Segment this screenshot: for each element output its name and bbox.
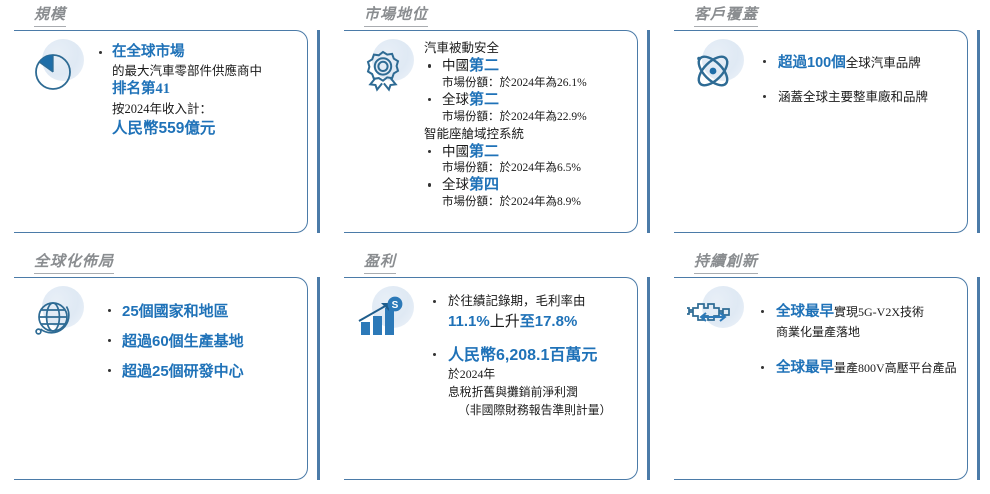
scale-line-1: 在全球市場 — [112, 43, 301, 62]
card-body-customer-coverage: 超過100個全球汽車品牌 涵蓋全球主要整車廠和品牌 — [752, 31, 967, 120]
margin-from: 11.1% — [448, 313, 490, 330]
panel-heading-profitability: 盈利 — [364, 250, 396, 274]
icon-area — [344, 31, 422, 102]
card-body-profitability: 於往績記錄期，毛利率由 11.1%上升至17.8% 人民幣6,208.1百萬元 … — [422, 278, 637, 431]
rank-value: 第二 — [469, 143, 499, 160]
rank-row: 中國第二 — [442, 57, 631, 76]
pie-chart-icon — [29, 47, 77, 100]
innovation-text: 量產800V高壓平台產品 — [834, 361, 957, 375]
ebitda-year: 於2024年 — [448, 366, 631, 384]
rank-region: 全球 — [442, 177, 469, 192]
feature-grid: 規模 — [0, 0, 990, 494]
panel-heading-scale: 規模 — [34, 3, 66, 27]
share-label: 市場份額：於2024年為 — [442, 162, 557, 174]
margin-intro: 於往績記錄期，毛利率由 — [448, 292, 631, 311]
svg-text:S: S — [392, 300, 399, 311]
panel-heading-global-footprint: 全球化佈局 — [34, 250, 114, 274]
icon-area — [14, 278, 92, 349]
panel-innovation: 持續創新 — [660, 247, 990, 494]
list-item: 中國第二 — [422, 57, 631, 76]
panel-heading-innovation: 持續創新 — [694, 250, 758, 274]
card-market-position: 汽車被動安全 中國第二 市場份額：於2024年為26.1% — [344, 30, 638, 233]
innovation-line-2: 商業化量產落地 — [776, 323, 961, 340]
share-value: 8.9% — [557, 196, 581, 208]
margin-to-label: 至 — [520, 313, 535, 330]
group-title-passive-safety: 汽車被動安全 — [424, 39, 631, 57]
rank-region: 中國 — [442, 144, 469, 159]
card-body-market-position: 汽車被動安全 中國第二 市場份額：於2024年為26.1% — [422, 31, 637, 210]
award-badge-icon — [360, 47, 406, 102]
card-right-accent-bar — [977, 277, 980, 480]
list-item: 全球第四 — [422, 176, 631, 195]
icon-area — [674, 278, 752, 345]
list-item: 涵蓋全球主要整車廠和品牌 — [760, 86, 961, 106]
growth-chart-dollar-icon: S — [357, 294, 409, 347]
innovation-text: 實現5G-V2X技術 — [834, 305, 924, 319]
margin-range: 11.1%上升至17.8% — [448, 311, 631, 333]
coverage-count: 超過100個 — [778, 55, 846, 71]
rank-row: 全球第四 — [442, 176, 631, 195]
card-right-accent-bar — [977, 30, 980, 233]
group-title-cockpit-domain: 智能座艙域控系統 — [424, 125, 631, 143]
share-value: 26.1% — [557, 77, 587, 89]
margin-mid: 上升 — [490, 314, 520, 330]
ebitda-nonifrs-note: （非國際財務報告準則計量） — [448, 402, 631, 420]
panel-global-footprint: 全球化佈局 — [0, 247, 330, 494]
rank-region: 全球 — [442, 92, 469, 107]
scale-line-5: 人民幣559億元 — [112, 118, 301, 140]
card-customer-coverage: 超過100個全球汽車品牌 涵蓋全球主要整車廠和品牌 — [674, 30, 968, 233]
atom-icon — [688, 47, 738, 100]
ebitda-amount: 人民幣6,208.1百萬元 — [448, 345, 631, 367]
chip-connect-icon — [687, 294, 739, 345]
panel-heading-customer-coverage: 客戶覆蓋 — [694, 3, 758, 27]
share-value: 6.5% — [557, 162, 581, 174]
list-item: 超過60個生產基地 — [102, 330, 301, 351]
globe-icon — [28, 294, 78, 349]
card-scale: 在全球市場 的最大汽車零部件供應商中 排名第41 按2024年收入計： 人民幣5… — [14, 30, 308, 233]
card-right-accent-bar — [647, 277, 650, 480]
icon-area — [14, 31, 92, 100]
rank-row: 中國第二 — [442, 143, 631, 162]
coverage-note: 涵蓋全球主要整車廠和品牌 — [778, 90, 928, 104]
scale-line-3: 排名第41 — [112, 80, 301, 100]
rank-value: 第二 — [469, 57, 499, 74]
list-item: 全球第二 — [422, 91, 631, 110]
list-item: 超過100個全球汽車品牌 — [760, 51, 961, 72]
card-innovation: 全球最早實現5G-V2X技術 商業化量產落地 全球最早量產800V高壓平台產品 — [674, 277, 968, 480]
share-row: 市場份額：於2024年為26.1% — [422, 76, 631, 91]
rank-region: 中國 — [442, 58, 469, 73]
innovation-line-3: 全球最早量產800V高壓平台產品 — [776, 358, 961, 379]
rank-row: 全球第二 — [442, 91, 631, 110]
rank-value: 第二 — [469, 91, 499, 108]
card-global-footprint: 25個國家和地區 超過60個生產基地 超過25個研發中心 — [14, 277, 308, 480]
innovation-line-1: 全球最早實現5G-V2X技術 — [776, 302, 961, 323]
icon-area: S — [344, 278, 422, 347]
innovation-highlight: 全球最早 — [776, 360, 834, 376]
list-item: 全球最早量產800V高壓平台產品 — [758, 358, 961, 379]
share-row: 市場份額：於2024年為6.5% — [422, 161, 631, 176]
footprint-rnd-centers: 超過25個研發中心 — [122, 363, 244, 380]
ebitda-label: 息稅折舊與攤銷前淨利潤 — [448, 384, 631, 402]
card-body-innovation: 全球最早實現5G-V2X技術 商業化量產落地 全球最早量產800V高壓平台產品 — [752, 278, 967, 397]
card-right-accent-bar — [317, 30, 320, 233]
icon-area — [674, 31, 752, 100]
list-item: 超過25個研發中心 — [102, 360, 301, 381]
card-body-global-footprint: 25個國家和地區 超過60個生產基地 超過25個研發中心 — [92, 278, 307, 390]
panel-scale: 規模 — [0, 0, 330, 247]
scale-line-2: 的最大汽車零部件供應商中 — [112, 62, 301, 80]
card-right-accent-bar — [647, 30, 650, 233]
share-label: 市場份額：於2024年為 — [442, 196, 557, 208]
share-label: 市場份額：於2024年為 — [442, 111, 557, 123]
share-value: 22.9% — [557, 111, 587, 123]
list-item: 人民幣6,208.1百萬元 於2024年 息稅折舊與攤銷前淨利潤 （非國際財務報… — [430, 345, 631, 420]
footprint-plants: 超過60個生產基地 — [122, 333, 244, 350]
panel-heading-market-position: 市場地位 — [364, 3, 428, 27]
share-label: 市場份額：於2024年為 — [442, 77, 557, 89]
card-profitability: S 於往績記錄期，毛利率由 11.1%上升至17.8% 人民幣6,2 — [344, 277, 638, 480]
panel-profitability: 盈利 S — [330, 247, 660, 494]
innovation-highlight: 全球最早 — [776, 304, 834, 320]
list-item: 於往績記錄期，毛利率由 11.1%上升至17.8% — [430, 292, 631, 333]
panel-customer-coverage: 客戶覆蓋 — [660, 0, 990, 247]
panel-market-position: 市場地位 — [330, 0, 660, 247]
scale-line-4: 按2024年收入計： — [112, 100, 301, 118]
list-item: 中國第二 — [422, 143, 631, 162]
share-row: 市場份額：於2024年為8.9% — [422, 195, 631, 210]
share-row: 市場份額：於2024年為22.9% — [422, 110, 631, 125]
coverage-count-suffix: 全球汽車品牌 — [846, 56, 921, 70]
footprint-countries: 25個國家和地區 — [122, 303, 229, 320]
margin-to: 17.8% — [535, 313, 578, 330]
list-item: 全球最早實現5G-V2X技術 商業化量產落地 — [758, 302, 961, 340]
card-body-scale: 在全球市場 的最大汽車零部件供應商中 排名第41 按2024年收入計： 人民幣5… — [92, 31, 307, 141]
list-item: 在全球市場 的最大汽車零部件供應商中 排名第41 按2024年收入計： 人民幣5… — [96, 43, 301, 139]
card-right-accent-bar — [317, 277, 320, 480]
rank-value: 第四 — [469, 176, 499, 193]
list-item: 25個國家和地區 — [102, 300, 301, 321]
